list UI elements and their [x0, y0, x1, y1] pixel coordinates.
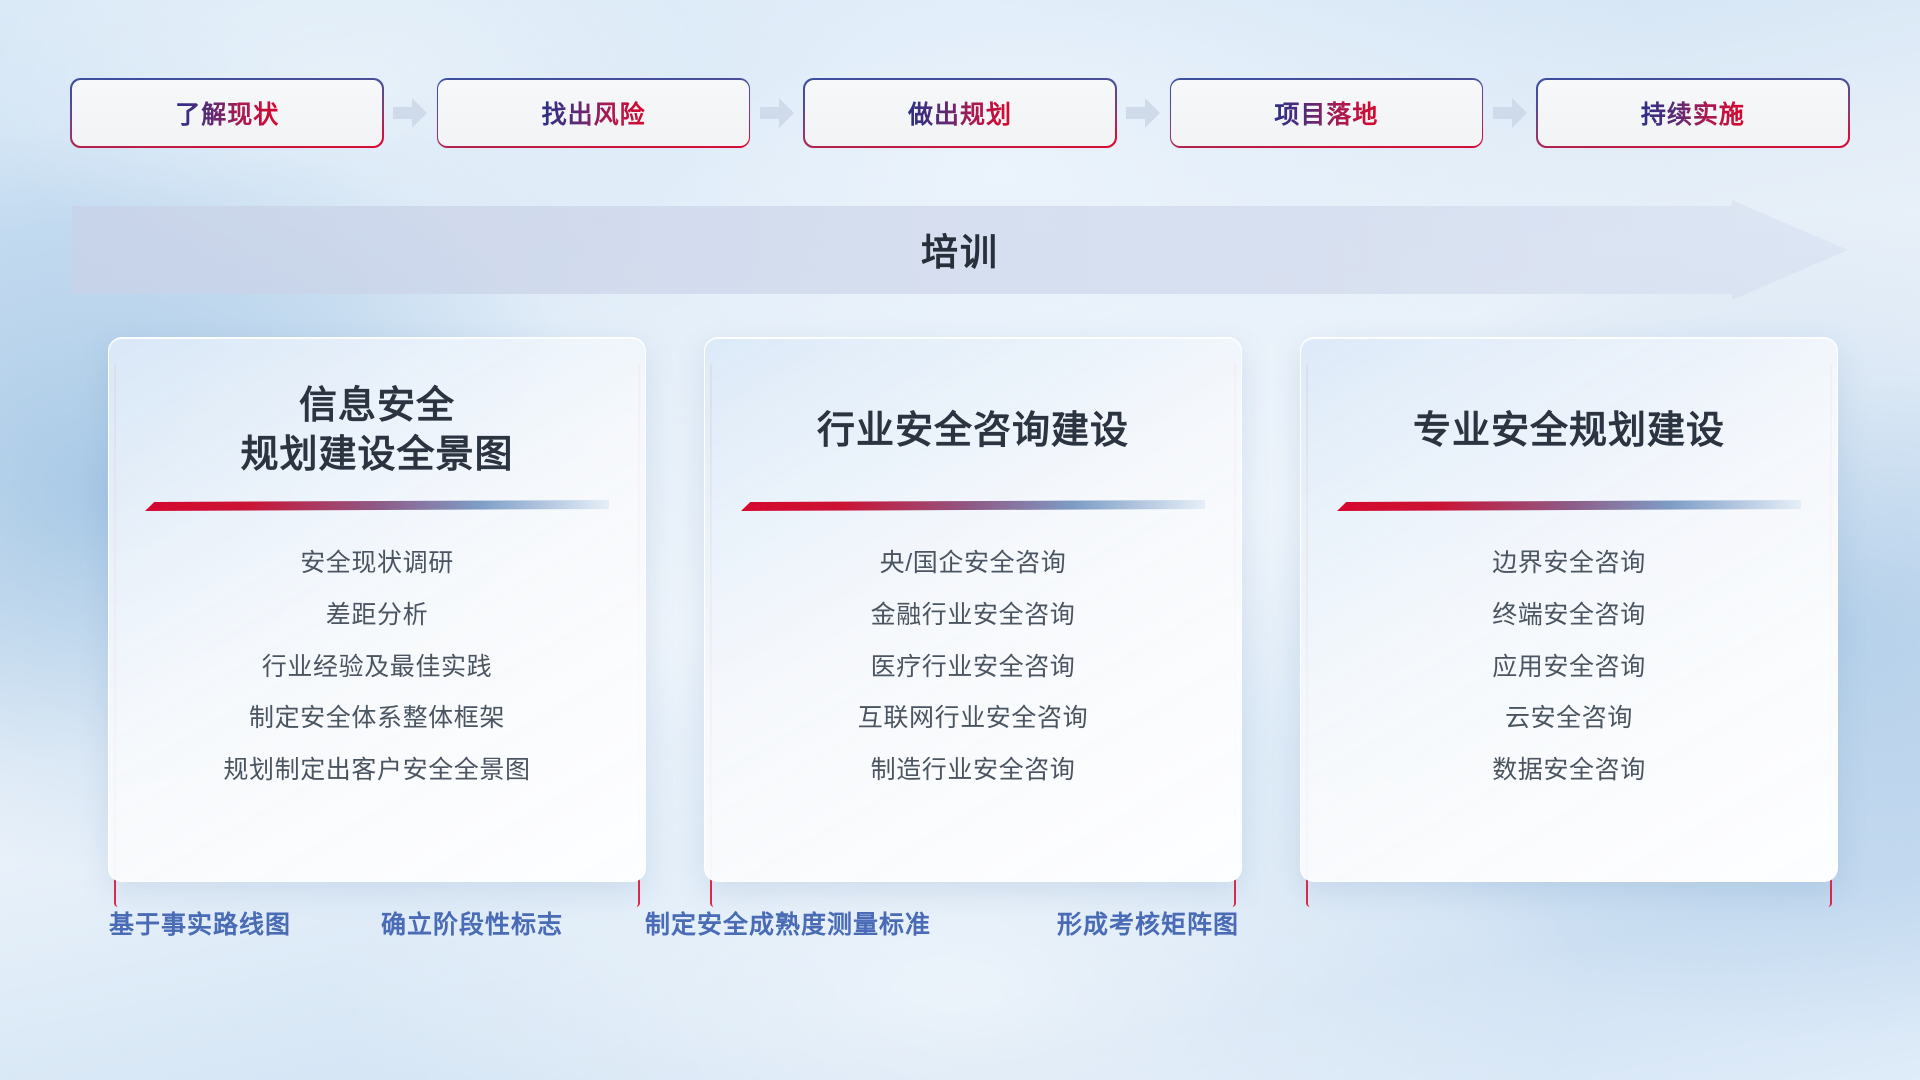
step-separator-4 — [1482, 92, 1538, 134]
step-label-5: 持续实施 — [1641, 95, 1745, 131]
gradient-divider-icon — [1337, 500, 1801, 513]
card-title-line: 规划建设全景图 — [133, 431, 621, 480]
card-1[interactable]: 信息安全 规划建设全景图 — [108, 337, 646, 882]
list-item: 应用安全咨询 — [1492, 651, 1646, 685]
list-item: 金融行业安全咨询 — [871, 599, 1076, 633]
card-title-2: 行业安全咨询建设 — [729, 376, 1217, 486]
step-separator-1 — [382, 92, 438, 134]
step-box-4[interactable]: 项目落地 — [1171, 80, 1481, 146]
card-title-1: 信息安全 规划建设全景图 — [133, 376, 621, 486]
card-divider-2 — [741, 500, 1205, 513]
card-2[interactable]: 行业安全咨询建设 — [704, 337, 1242, 882]
list-item: 行业经验及最佳实践 — [262, 651, 492, 685]
step-separator-3 — [1115, 92, 1171, 134]
foot-label-4: 形成考核矩阵图 — [1057, 905, 1239, 941]
card-wrap-3: 专业安全规划建设 — [1300, 337, 1838, 882]
card-title-line: 行业安全咨询建设 — [729, 407, 1217, 456]
card-list-1: 安全现状调研 差距分析 行业经验及最佳实践 制定安全体系整体框架 规划制定出客户… — [133, 547, 621, 788]
foot-label-1: 基于事实路线图 — [109, 905, 291, 941]
list-item: 央/国企安全咨询 — [880, 547, 1067, 581]
arrow-right-icon — [393, 98, 427, 128]
banner-title: 培训 — [72, 222, 1848, 276]
card-title-line: 信息安全 — [133, 382, 621, 431]
step-box-5[interactable]: 持续实施 — [1538, 80, 1848, 146]
list-item: 制造行业安全咨询 — [871, 754, 1076, 788]
list-item: 制定安全体系整体框架 — [249, 702, 505, 736]
foot-label-3: 制定安全成熟度测量标准 — [645, 905, 931, 941]
list-item: 边界安全咨询 — [1492, 547, 1646, 581]
arrow-right-icon — [760, 98, 794, 128]
step-box-1[interactable]: 了解现状 — [72, 80, 382, 146]
list-item: 数据安全咨询 — [1492, 754, 1646, 788]
card-divider-3 — [1337, 500, 1801, 513]
list-item: 安全现状调研 — [300, 547, 454, 581]
step-box-3[interactable]: 做出规划 — [805, 80, 1115, 146]
list-item: 互联网行业安全咨询 — [858, 702, 1088, 736]
card-title-3: 专业安全规划建设 — [1325, 376, 1813, 486]
list-item: 差距分析 — [326, 599, 428, 633]
card-wrap-2: 行业安全咨询建设 — [704, 337, 1242, 882]
list-item: 终端安全咨询 — [1492, 599, 1646, 633]
gradient-divider-icon — [741, 500, 1205, 513]
card-list-3: 边界安全咨询 终端安全咨询 应用安全咨询 云安全咨询 数据安全咨询 — [1325, 547, 1813, 788]
step-box-2[interactable]: 找出风险 — [438, 80, 748, 146]
step-label-2: 找出风险 — [542, 95, 646, 131]
footer-label-row: 基于事实路线图 确立阶段性标志 制定安全成熟度测量标准 形成考核矩阵图 — [0, 905, 1920, 951]
step-label-4: 项目落地 — [1274, 95, 1378, 131]
card-title-line: 专业安全规划建设 — [1325, 407, 1813, 456]
gradient-divider-icon — [145, 500, 609, 513]
list-item: 云安全咨询 — [1505, 702, 1633, 736]
slide-canvas: 了解现状 找出风险 做出规划 项目落地 — [0, 0, 1920, 1080]
card-divider-1 — [145, 500, 609, 513]
step-label-1: 了解现状 — [175, 95, 279, 131]
list-item: 医疗行业安全咨询 — [871, 651, 1076, 685]
arrow-right-icon — [1126, 98, 1160, 128]
foot-label-2: 确立阶段性标志 — [381, 905, 563, 941]
process-step-row: 了解现状 找出风险 做出规划 项目落地 — [72, 80, 1848, 146]
step-separator-2 — [749, 92, 805, 134]
card-wrap-1: 信息安全 规划建设全景图 — [108, 337, 646, 882]
card-row: 信息安全 规划建设全景图 — [108, 337, 1838, 882]
card-3[interactable]: 专业安全规划建设 — [1300, 337, 1838, 882]
step-label-3: 做出规划 — [908, 95, 1012, 131]
training-banner: 培训 — [72, 200, 1848, 300]
list-item: 规划制定出客户安全全景图 — [223, 754, 530, 788]
arrow-right-icon — [1493, 98, 1527, 128]
card-list-2: 央/国企安全咨询 金融行业安全咨询 医疗行业安全咨询 互联网行业安全咨询 制造行… — [729, 547, 1217, 788]
